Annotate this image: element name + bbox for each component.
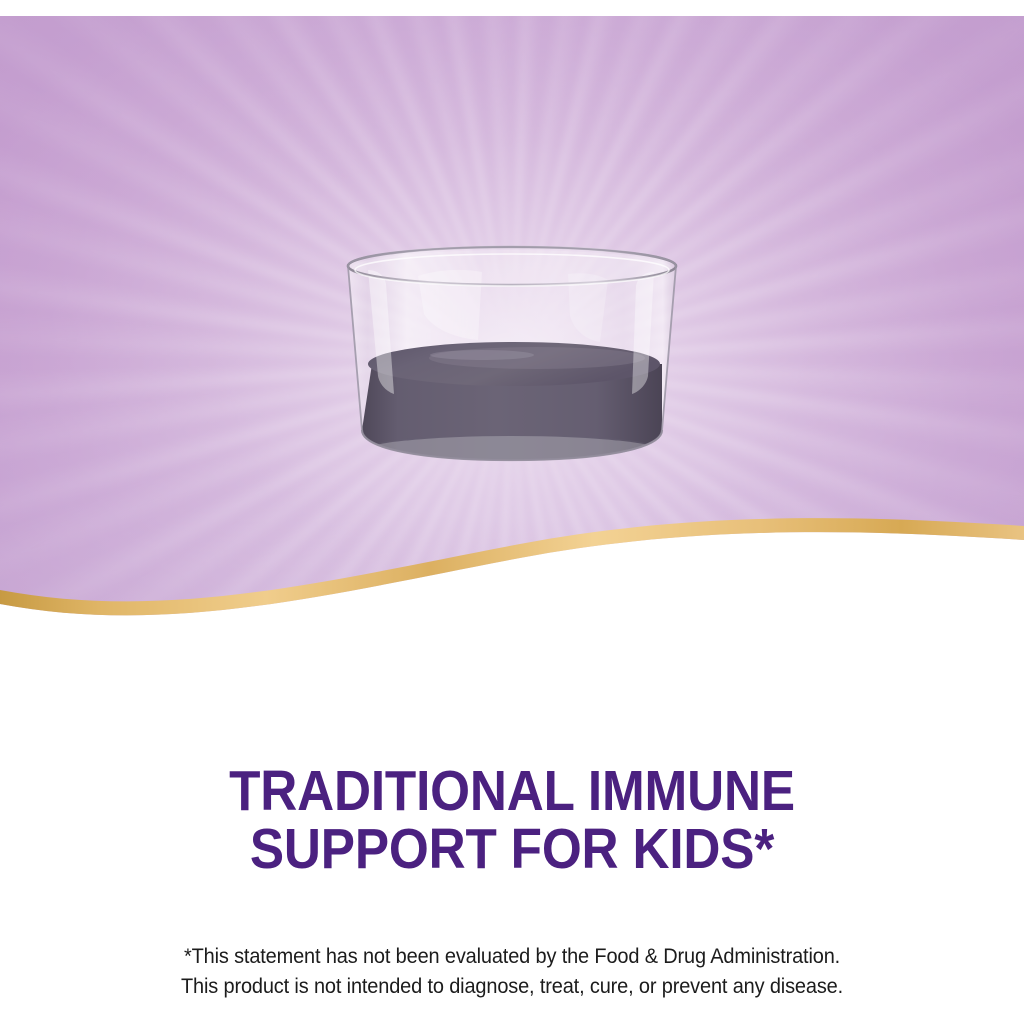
headline-line-2: SUPPORT FOR KIDS* [51,820,973,878]
product-marketing-page: TRADITIONAL IMMUNE SUPPORT FOR KIDS* *Th… [0,0,1024,1024]
glass-bowl-product-image [332,244,692,484]
glass-bowl-icon [332,244,692,484]
headline-line-1: TRADITIONAL IMMUNE [51,762,973,820]
fda-disclaimer: *This statement has not been evaluated b… [26,942,999,1002]
gold-wave-divider [0,486,1024,684]
page-headline: TRADITIONAL IMMUNE SUPPORT FOR KIDS* [51,762,973,878]
product-hero-banner [0,16,1024,684]
disclaimer-line-1: *This statement has not been evaluated b… [26,942,999,972]
disclaimer-line-2: This product is not intended to diagnose… [26,972,999,1002]
